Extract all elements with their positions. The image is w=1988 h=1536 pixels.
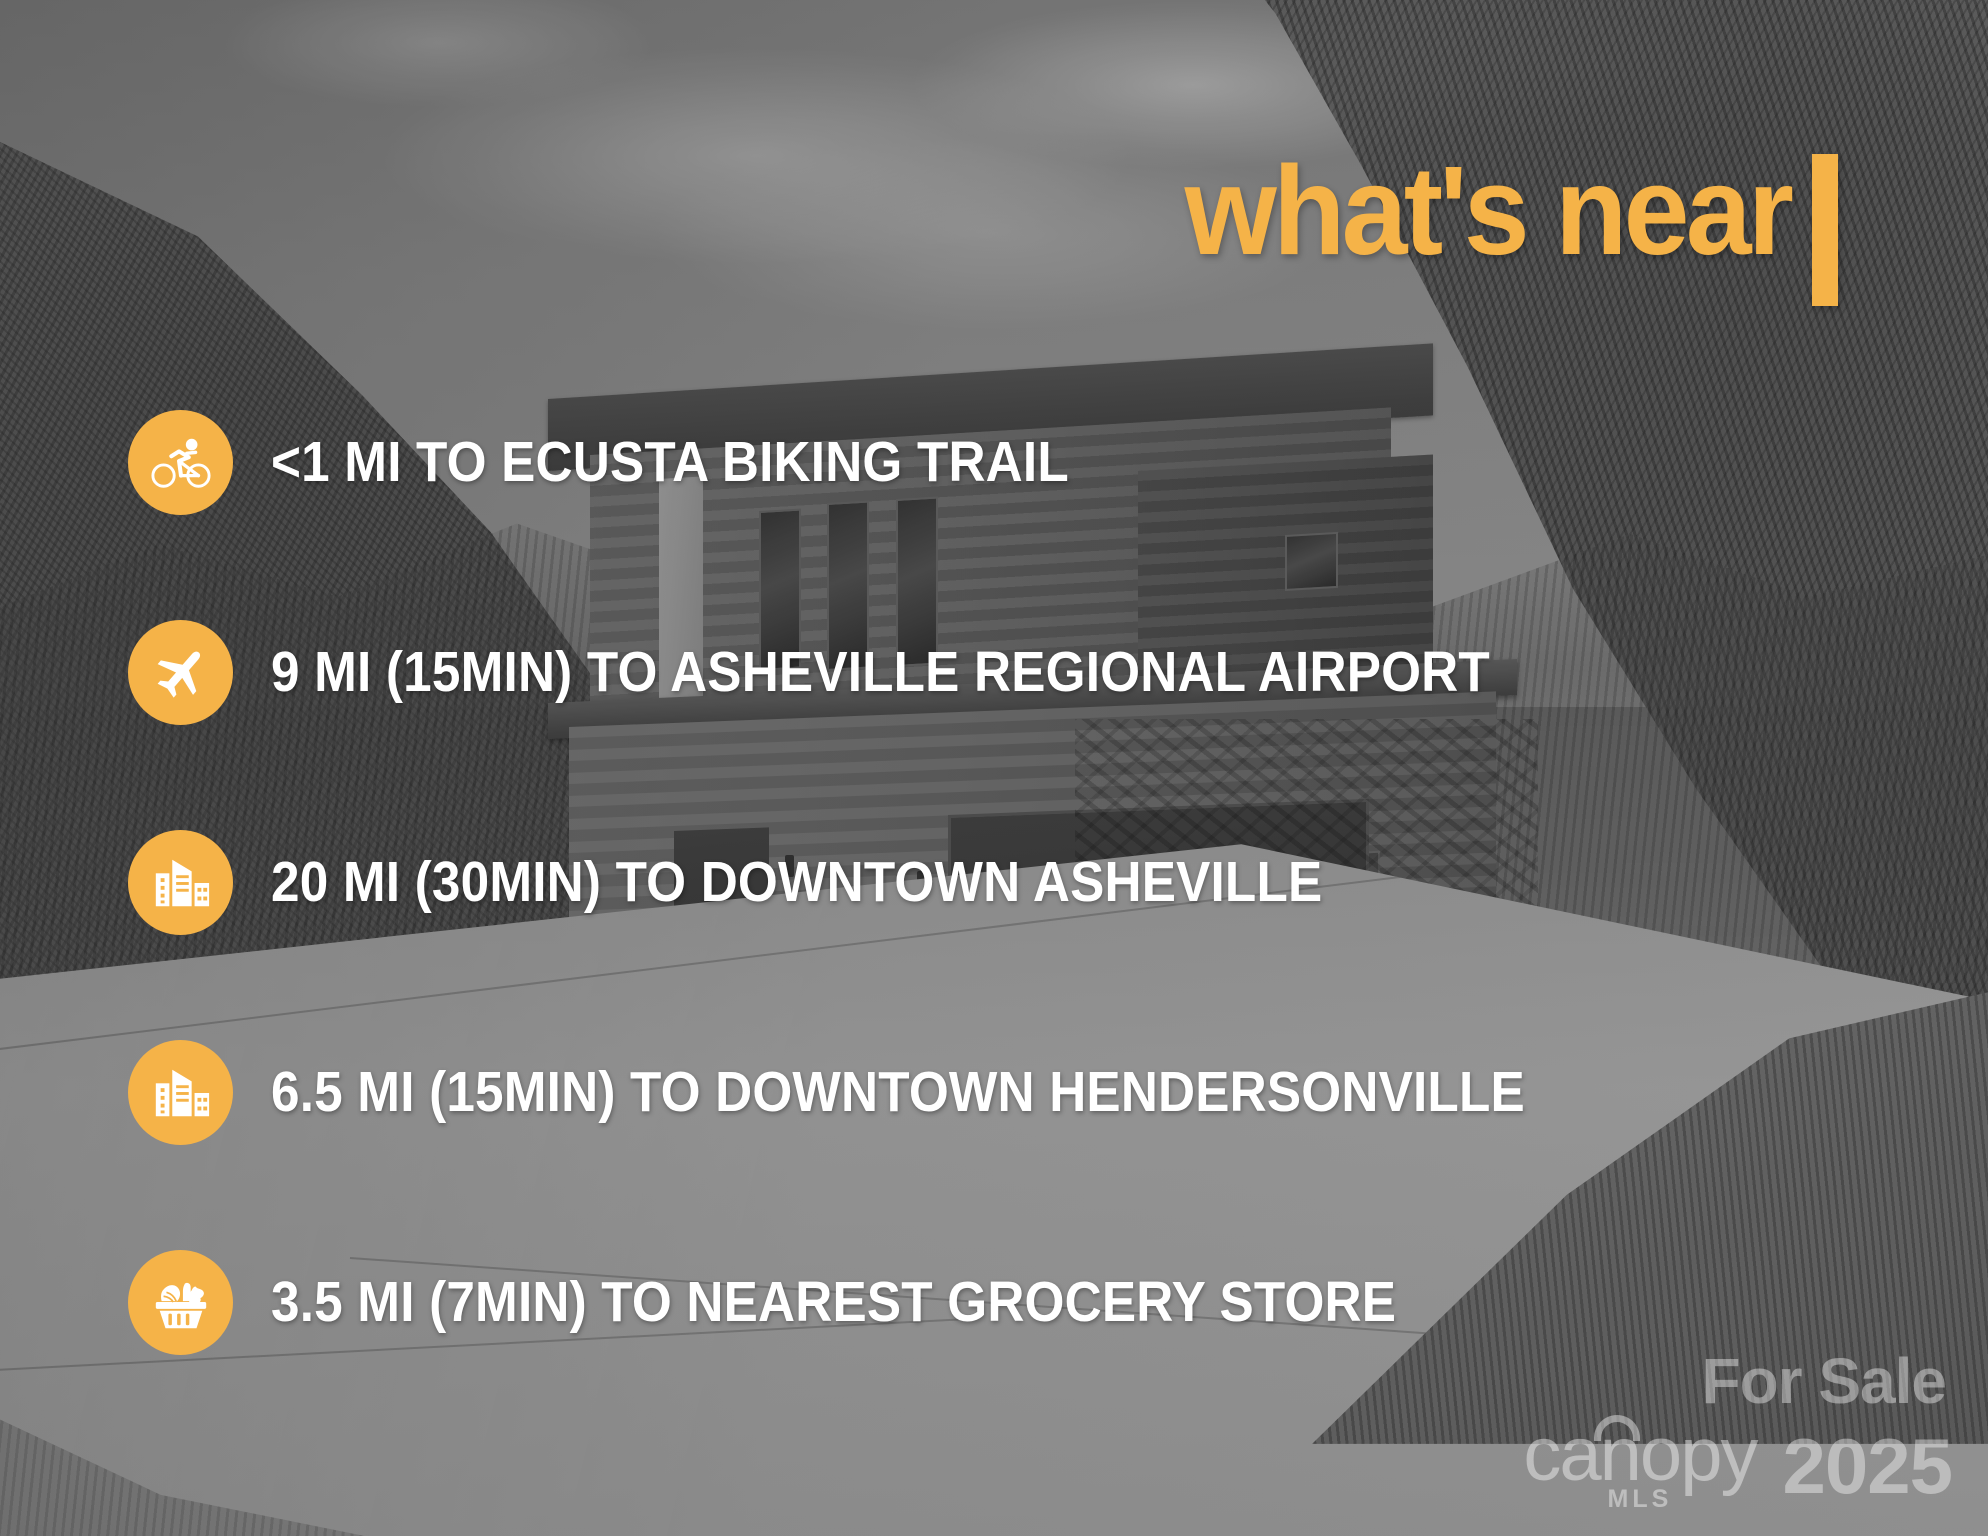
- canopy-mls-logo: canopy MLS: [1523, 1419, 1756, 1514]
- amenity-label: 20 MI (30MIN) TO DOWNTOWN ASHEVILLE: [271, 854, 1322, 911]
- page-title: what's near: [1146, 148, 1838, 306]
- amenity-badge: [128, 1040, 233, 1145]
- amenities-list: <1 MI TO ECUSTA BIKING TRAIL 9 MI (15MIN…: [128, 410, 1918, 1460]
- amenity-badge: [128, 620, 233, 725]
- title-caret-bar: [1812, 154, 1838, 306]
- whats-near-slide: what's near <1 MI TO ECUSTA BIKING TRAIL: [0, 0, 1988, 1536]
- amenity-badge: [128, 410, 233, 515]
- list-item: <1 MI TO ECUSTA BIKING TRAIL: [128, 410, 1918, 515]
- bicycle-icon: [150, 432, 212, 494]
- airplane-icon: [150, 642, 212, 704]
- amenity-label: 3.5 MI (7MIN) TO NEAREST GROCERY STORE: [271, 1274, 1396, 1331]
- amenity-label: 9 MI (15MIN) TO ASHEVILLE REGIONAL AIRPO…: [271, 644, 1490, 701]
- watermark-year: 2025: [1782, 1421, 1952, 1512]
- amenity-badge: [128, 830, 233, 935]
- amenity-label: 6.5 MI (15MIN) TO DOWNTOWN HENDERSONVILL…: [271, 1064, 1525, 1121]
- list-item: 9 MI (15MIN) TO ASHEVILLE REGIONAL AIRPO…: [128, 620, 1918, 725]
- list-item: 20 MI (30MIN) TO DOWNTOWN ASHEVILLE: [128, 830, 1918, 935]
- mls-sublabel: MLS: [1608, 1485, 1673, 1514]
- mls-watermark: canopy MLS 2025: [1523, 1419, 1952, 1514]
- for-sale-watermark: For Sale: [1701, 1344, 1946, 1418]
- buildings-icon: [150, 1062, 212, 1124]
- list-item: 3.5 MI (7MIN) TO NEAREST GROCERY STORE: [128, 1250, 1918, 1355]
- amenity-label: <1 MI TO ECUSTA BIKING TRAIL: [271, 434, 1069, 491]
- grocery-basket-icon: [150, 1272, 212, 1334]
- page-title-text: what's near: [1184, 148, 1790, 274]
- list-item: 6.5 MI (15MIN) TO DOWNTOWN HENDERSONVILL…: [128, 1040, 1918, 1145]
- buildings-icon: [150, 852, 212, 914]
- amenity-badge: [128, 1250, 233, 1355]
- canopy-wordmark: canopy: [1523, 1419, 1756, 1491]
